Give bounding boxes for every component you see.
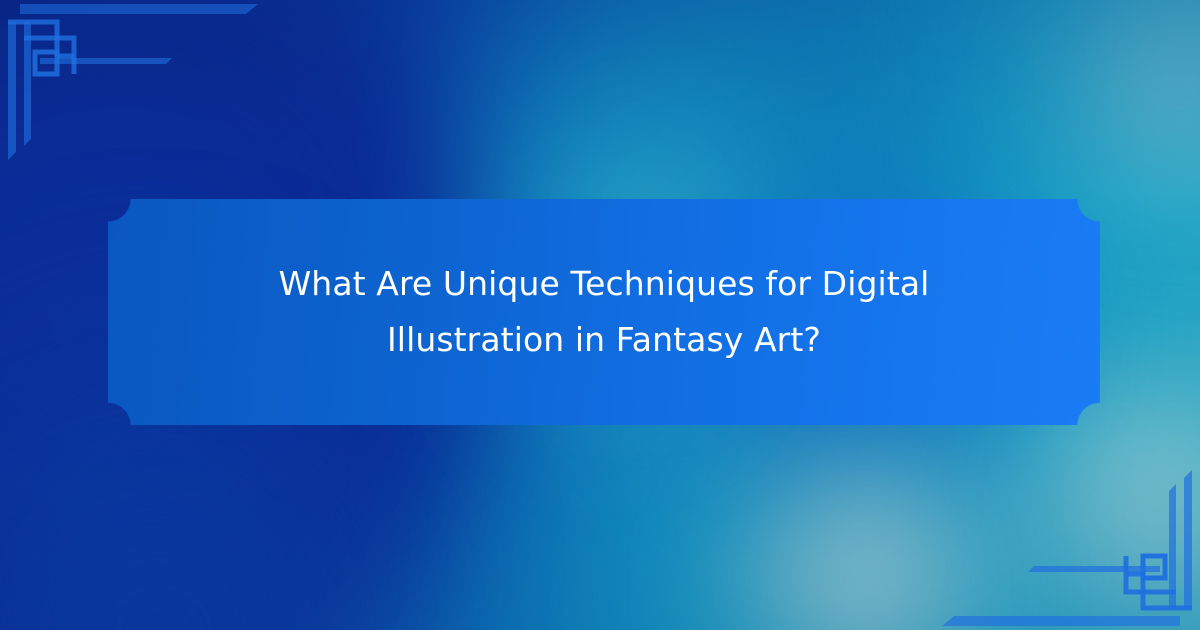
- page-title: What Are Unique Techniques for Digital I…: [244, 256, 964, 368]
- title-card: What Are Unique Techniques for Digital I…: [108, 199, 1100, 425]
- share-card-canvas: What Are Unique Techniques for Digital I…: [0, 0, 1200, 630]
